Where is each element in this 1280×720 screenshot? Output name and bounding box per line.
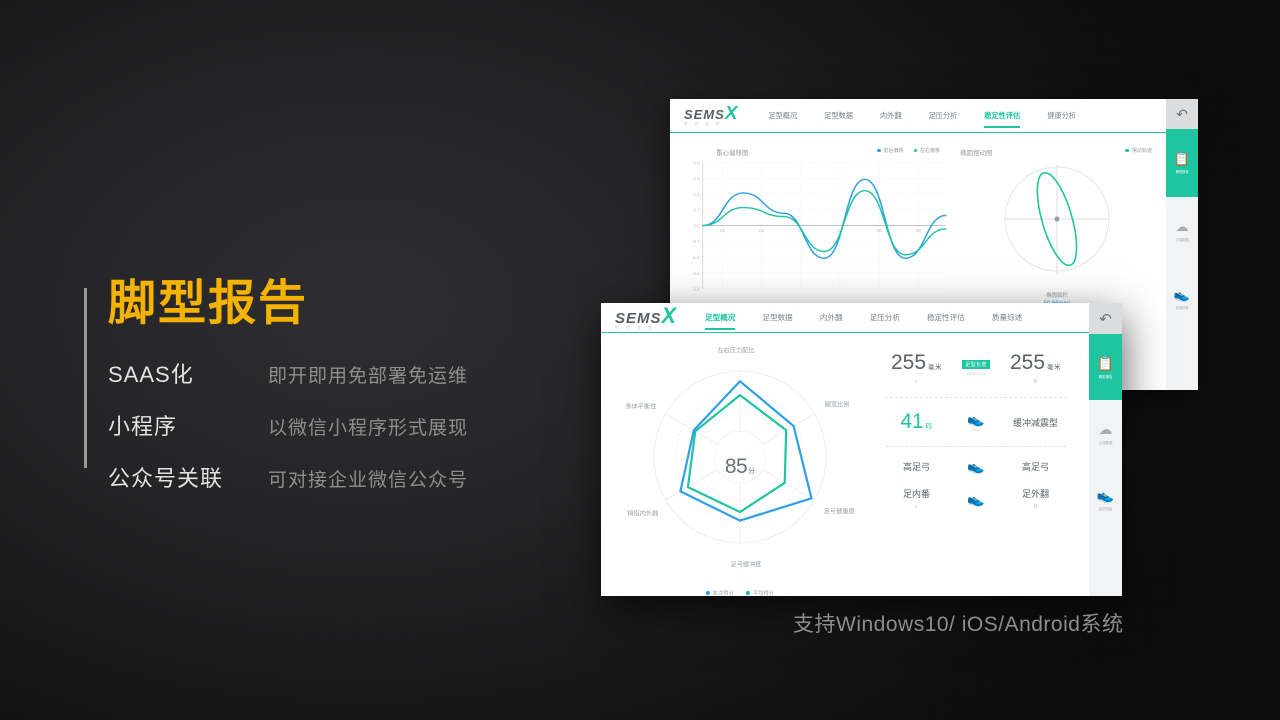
arch-left-label: 高足弓 bbox=[903, 460, 930, 473]
svg-text:-0.7: -0.7 bbox=[692, 239, 700, 244]
svg-text:02: 02 bbox=[759, 228, 765, 233]
logo-text: SEMSX bbox=[615, 305, 677, 327]
undo-icon[interactable]: ↶ bbox=[1166, 99, 1198, 129]
legend-item: 前后偏移 bbox=[877, 147, 904, 154]
sidebar-item-measure[interactable]: 👟 足部测量 bbox=[1166, 265, 1198, 333]
divider bbox=[885, 397, 1067, 398]
side-label-right: R bbox=[1034, 504, 1038, 510]
shoe-icon-block: 👟 Shoe bbox=[948, 412, 1004, 432]
svg-text:2.1: 2.1 bbox=[693, 176, 700, 181]
sidebar-item-cloud[interactable]: ☁ 云端数据 bbox=[1166, 197, 1198, 265]
arch-icon-block: 👟 bbox=[948, 459, 1004, 473]
metric-value: 41 码 bbox=[900, 410, 932, 434]
feature-key: SAAS化 bbox=[108, 357, 268, 389]
metrics-panel: 255 毫米 L 足型长度 LENGTH 255 毫米 bbox=[879, 333, 1089, 596]
roll-icon-block: 👟 bbox=[948, 492, 1004, 506]
undo-icon[interactable]: ↶ bbox=[1089, 303, 1122, 334]
tab-pressure-analysis[interactable]: 足压分析 bbox=[870, 312, 900, 323]
back-window-sidebar: ↶ 📋 脚型报告 ☁ 云端数据 👟 足部测量 bbox=[1166, 99, 1198, 390]
legend-label: 前后偏移 bbox=[884, 147, 904, 154]
tab-pressure-analysis[interactable]: 足压分析 bbox=[929, 111, 958, 121]
score-unit: 分 bbox=[748, 466, 755, 476]
ellipse-chart-legend: 摆动轨迹 bbox=[1125, 147, 1152, 154]
radar-axis-label-2: 足弓健康度 bbox=[824, 506, 855, 515]
front-window-body: 左右压力配比 腿宽比例 足弓健康度 足弓缓冲度 拇指内外翻 身体平衡性 85 分… bbox=[601, 333, 1089, 596]
metric-arch-left: 高足弓 bbox=[885, 460, 948, 473]
svg-text:01: 01 bbox=[720, 228, 726, 233]
feature-key: 公众号关联 bbox=[108, 461, 268, 493]
metric-length-badge: 足型长度 LENGTH bbox=[948, 360, 1004, 376]
metric-length-right: 255 毫米 R bbox=[1004, 351, 1067, 385]
shoe-size-unit: 码 bbox=[926, 421, 933, 430]
tab-foot-data[interactable]: 足型数据 bbox=[824, 111, 853, 121]
legend-label: 平均得分 bbox=[753, 589, 775, 596]
svg-text:-2.1: -2.1 bbox=[692, 271, 700, 276]
svg-text:0.7: 0.7 bbox=[693, 208, 700, 213]
legend-dot-icon bbox=[914, 149, 918, 153]
shoe-icon-caption: Shoe bbox=[972, 428, 980, 432]
score-value: 85 bbox=[725, 455, 747, 479]
sidebar-item-label: 脚型报告 bbox=[1176, 170, 1189, 175]
tab-foot-overview[interactable]: 足型概况 bbox=[768, 111, 797, 121]
sems-logo: SEMSX 时 代 光 华 bbox=[684, 104, 738, 126]
length-left-unit: 毫米 bbox=[928, 362, 942, 371]
radar-chart-panel: 左右压力配比 腿宽比例 足弓健康度 足弓缓冲度 拇指内外翻 身体平衡性 85 分… bbox=[601, 333, 879, 596]
front-window-sidebar: ↶ 📋 脚型报告 ☁ 云端数据 👟 足部测量 bbox=[1089, 303, 1122, 596]
length-right-unit: 毫米 bbox=[1047, 362, 1061, 371]
sidebar-item-cloud[interactable]: ☁ 云端数据 bbox=[1089, 400, 1122, 466]
roll-left-label: 足内番 bbox=[903, 487, 930, 500]
legend-item: 左右偏移 bbox=[914, 147, 941, 154]
metric-value: 255 毫米 bbox=[891, 351, 942, 375]
metric-mid-label: LENGTH bbox=[967, 371, 986, 376]
legend-label: 摆动轨迹 bbox=[1132, 147, 1152, 154]
list-item: SAAS化 即开即用免部署免运维 bbox=[108, 357, 524, 389]
svg-text:1.4: 1.4 bbox=[693, 192, 700, 197]
svg-text:05: 05 bbox=[877, 228, 883, 233]
length-left-value: 255 bbox=[891, 351, 926, 375]
legend-item: 摆动轨迹 bbox=[1125, 147, 1152, 154]
back-window-header: SEMSX 时 代 光 华 足型概况 足型数据 内外翻 足压分析 稳定性评估 健… bbox=[670, 99, 1166, 133]
metric-row-arch: 高足弓 👟 高足弓 bbox=[885, 459, 1067, 473]
legend-label: 左右偏移 bbox=[920, 147, 940, 154]
shoe-size-value: 41 bbox=[900, 410, 923, 434]
tab-foot-overview[interactable]: 足型概况 bbox=[705, 312, 735, 323]
legend-dot-icon bbox=[746, 591, 750, 595]
tab-pronation[interactable]: 内外翻 bbox=[820, 312, 843, 323]
foot-overview-window: SEMSX 时 代 光 华 足型概况 足型数据 内外翻 足压分析 稳定性评估 质… bbox=[601, 303, 1122, 596]
tab-stability-assessment[interactable]: 稳定性评估 bbox=[984, 111, 1020, 121]
list-item: 公众号关联 可对接企业微信公众号 bbox=[108, 461, 524, 493]
ellipse-area-label: 椭圆面积 bbox=[954, 291, 1160, 299]
tab-pronation[interactable]: 内外翻 bbox=[880, 111, 902, 121]
logo-subtitle: 时 代 光 华 bbox=[615, 326, 677, 330]
front-window-header: SEMSX 时 代 光 华 足型概况 足型数据 内外翻 足压分析 稳定性评估 质… bbox=[601, 303, 1089, 333]
page-title: 脚型报告 bbox=[108, 278, 524, 331]
feature-value: 即开即用免部署免运维 bbox=[268, 361, 468, 388]
ellipse-chart-title: 椭圆摆动图 bbox=[960, 147, 993, 157]
foot-arch-icon: 👟 bbox=[967, 459, 984, 473]
slide-text-panel: 脚型报告 SAAS化 即开即用免部署免运维 小程序 以微信小程序形式展现 公众号… bbox=[84, 278, 524, 513]
list-item: 小程序 以微信小程序形式展现 bbox=[108, 409, 524, 441]
divider bbox=[885, 446, 1067, 447]
tab-stability-assessment[interactable]: 稳定性评估 bbox=[927, 312, 965, 323]
radar-center-score: 85 分 bbox=[725, 455, 755, 479]
svg-text:2.8: 2.8 bbox=[693, 161, 700, 166]
feature-list: SAAS化 即开即用免部署免运维 小程序 以微信小程序形式展现 公众号关联 可对… bbox=[108, 357, 524, 493]
metric-value: 255 毫米 bbox=[1010, 351, 1061, 375]
front-window-main: SEMSX 时 代 光 华 足型概况 足型数据 内外翻 足压分析 稳定性评估 质… bbox=[601, 303, 1089, 596]
spacer bbox=[885, 473, 1067, 487]
feet-icon: 👟 bbox=[1097, 487, 1114, 504]
metric-row-length: 255 毫米 L 足型长度 LENGTH 255 毫米 bbox=[885, 351, 1067, 385]
arch-right-label: 高足弓 bbox=[1022, 460, 1049, 473]
feature-key: 小程序 bbox=[108, 409, 268, 441]
svg-text:-2.8: -2.8 bbox=[692, 287, 700, 292]
shoe-icon: 👟 bbox=[967, 412, 984, 426]
side-label-right: R bbox=[1034, 379, 1038, 385]
svg-text:06: 06 bbox=[916, 228, 922, 233]
clipboard-icon: 📋 bbox=[1174, 151, 1190, 167]
platform-caption: 支持Windows10/ iOS/Android系统 bbox=[793, 608, 1123, 638]
metric-row-roll: 足内番 L 👟 足外翻 R bbox=[885, 487, 1067, 510]
roll-right-label: 足外翻 bbox=[1022, 487, 1049, 500]
foot-roll-icon: 👟 bbox=[967, 492, 984, 506]
legend-dot-icon bbox=[1125, 149, 1129, 153]
sidebar-item-label: 云端数据 bbox=[1176, 238, 1189, 243]
legend-item: 平均得分 bbox=[746, 589, 774, 596]
cog-shift-line-chart: 2.82.11.40.70.0-0.7-1.4-2.1-2.8010203040… bbox=[676, 155, 954, 315]
metric-arch-right: 高足弓 bbox=[1004, 460, 1067, 473]
cloud-icon: ☁ bbox=[1176, 219, 1189, 235]
cloud-icon: ☁ bbox=[1099, 421, 1113, 438]
sems-logo: SEMSX 时 代 光 华 bbox=[615, 305, 677, 331]
back-window-tabbar: 足型概况 足型数据 内外翻 足压分析 稳定性评估 健康分析 bbox=[768, 111, 1152, 121]
title-rule bbox=[84, 288, 87, 468]
radar-axis-label-1: 腿宽比例 bbox=[825, 399, 850, 408]
metric-roll-left: 足内番 L bbox=[885, 487, 948, 510]
feature-value: 可对接企业微信公众号 bbox=[268, 465, 468, 492]
side-label-left: L bbox=[915, 504, 918, 510]
svg-text:0.0: 0.0 bbox=[693, 224, 700, 229]
radar-axis-label-4: 拇指内外翻 bbox=[627, 508, 658, 517]
logo-subtitle: 时 代 光 华 bbox=[684, 123, 738, 127]
tab-foot-data[interactable]: 足型数据 bbox=[762, 312, 792, 323]
radar-legend: 本次得分 平均得分 bbox=[706, 589, 774, 596]
radar-axis-label-5: 身体平衡性 bbox=[625, 401, 656, 410]
metric-length-left: 255 毫米 L bbox=[885, 351, 948, 385]
shoe-type-label: 缓冲减震型 bbox=[1013, 416, 1058, 429]
tab-health-analysis[interactable]: 健康分析 bbox=[1047, 111, 1076, 121]
feet-icon: 👟 bbox=[1174, 287, 1190, 303]
sway-ellipse-graphic bbox=[954, 157, 1160, 287]
legend-dot-icon bbox=[706, 591, 710, 595]
radar-axis-label-3: 足弓缓冲度 bbox=[731, 560, 762, 569]
sidebar-item-report[interactable]: 📋 脚型报告 bbox=[1166, 129, 1198, 197]
legend-dot-icon bbox=[877, 149, 881, 153]
length-right-value: 255 bbox=[1010, 351, 1045, 375]
sidebar-item-label: 足部测量 bbox=[1176, 306, 1189, 311]
logo-x-glyph: X bbox=[662, 303, 678, 328]
metric-shoe-size: 41 码 bbox=[885, 410, 948, 434]
sidebar-item-label: 云端数据 bbox=[1099, 441, 1113, 446]
clipboard-icon: 📋 bbox=[1097, 355, 1114, 372]
sidebar-item-report[interactable]: 📋 脚型报告 bbox=[1089, 334, 1122, 400]
front-window-tabbar: 足型概况 足型数据 内外翻 足压分析 稳定性评估 质量综述 bbox=[705, 312, 1075, 323]
svg-text:-1.4: -1.4 bbox=[692, 255, 700, 260]
metric-shoe-type: 缓冲减震型 bbox=[1004, 416, 1067, 429]
logo-main-text: SEMS bbox=[684, 107, 725, 122]
sidebar-item-label: 脚型报告 bbox=[1099, 375, 1113, 380]
radar-axis-label-0: 左右压力配比 bbox=[717, 346, 754, 355]
line-chart-legend: 前后偏移 左右偏移 bbox=[877, 147, 940, 154]
side-label-left: L bbox=[915, 379, 918, 385]
sidebar-item-measure[interactable]: 👟 足部测量 bbox=[1089, 466, 1122, 532]
tab-quality-summary[interactable]: 质量综述 bbox=[992, 312, 1022, 323]
status-badge: 足型长度 bbox=[962, 360, 990, 369]
legend-item: 本次得分 bbox=[706, 589, 734, 596]
sidebar-item-label: 足部测量 bbox=[1099, 507, 1113, 512]
logo-x-glyph: X bbox=[725, 102, 739, 123]
feature-value: 以微信小程序形式展现 bbox=[268, 413, 468, 440]
metric-row-size: 41 码 👟 Shoe 缓冲减震型 bbox=[885, 410, 1067, 434]
legend-label: 本次得分 bbox=[712, 589, 734, 596]
metric-roll-right: 足外翻 R bbox=[1004, 487, 1067, 510]
logo-text: SEMSX bbox=[684, 104, 738, 123]
